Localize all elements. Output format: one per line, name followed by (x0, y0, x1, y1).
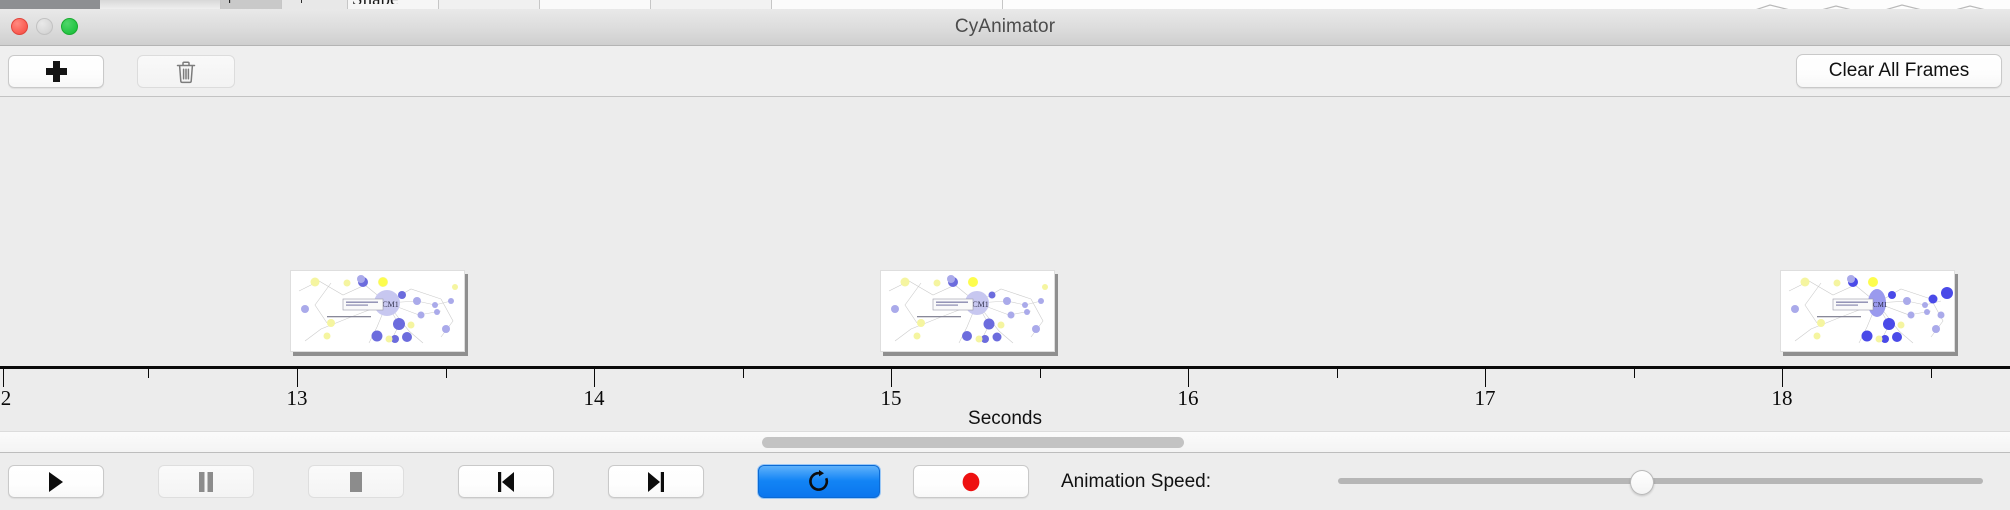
background-segment (282, 0, 348, 9)
clear-all-frames-button[interactable]: Clear All Frames (1796, 54, 2002, 88)
background-window-strip: ⌐ ↑ Shape (0, 0, 2010, 9)
ruler-major-tick (594, 369, 595, 387)
thumbnail-image: MCM1 (1780, 270, 1955, 352)
keyframe-thumbnail[interactable]: MCM1 (880, 270, 1055, 352)
record-button[interactable] (913, 465, 1029, 498)
keyframe-thumbnail[interactable]: MCM1 (1780, 270, 1955, 352)
background-network-preview (1740, 0, 2010, 9)
skip-forward-icon (646, 471, 666, 493)
skip-back-icon (496, 471, 516, 493)
ruler-major-tick (1188, 369, 1189, 387)
window-title: CyAnimator (0, 9, 2010, 44)
ruler-major-tick (3, 369, 4, 387)
slider-track (1338, 478, 1983, 484)
stop-icon (347, 471, 365, 493)
playback-controls: Animation Speed: (0, 453, 2010, 510)
background-glyph: ↑ (296, 0, 307, 3)
thumbnail-image: MCM1 (880, 270, 1055, 352)
add-frame-button[interactable] (8, 55, 104, 88)
plus-icon (46, 61, 67, 82)
background-segment (651, 0, 772, 9)
pause-button[interactable] (158, 465, 254, 498)
ruler-minor-tick (1337, 369, 1338, 378)
ruler-minor-tick (1634, 369, 1635, 378)
delete-frame-button[interactable] (137, 55, 235, 88)
background-dark-tab (0, 0, 100, 9)
play-button[interactable] (8, 465, 104, 498)
animation-speed-slider[interactable] (1338, 453, 1983, 510)
play-icon (46, 471, 66, 493)
background-segment (772, 0, 1003, 9)
ruler-minor-tick (1931, 369, 1932, 378)
ruler-minor-tick (446, 369, 447, 378)
timeline-horizontal-scrollbar[interactable] (0, 431, 2010, 453)
ruler-major-tick (1782, 369, 1783, 387)
background-glyph: ⌐ (228, 0, 240, 3)
scrollbar-thumb[interactable] (762, 437, 1184, 448)
ruler-minor-tick (148, 369, 149, 378)
ruler-major-tick (891, 369, 892, 387)
record-icon (960, 471, 982, 493)
background-segment (100, 0, 221, 9)
cyanimator-window: CyAnimator Clear All Frames (0, 9, 2010, 510)
background-segment (540, 0, 651, 9)
stop-button[interactable] (308, 465, 404, 498)
keyframe-thumbnail[interactable]: MCM1 (290, 270, 465, 352)
window-titlebar[interactable]: CyAnimator (0, 9, 2010, 46)
skip-to-end-button[interactable] (608, 465, 704, 498)
background-segment (439, 0, 540, 9)
axis-title-seconds: Seconds (0, 408, 2010, 430)
ruler-major-tick (1485, 369, 1486, 387)
pause-icon (197, 471, 215, 493)
timeline-ruler[interactable]: 2 13 14 15 16 17 18 Seconds (0, 366, 2010, 431)
ruler-minor-tick (743, 369, 744, 378)
ruler-minor-tick (1040, 369, 1041, 378)
loop-icon (808, 470, 830, 494)
loop-button[interactable] (758, 465, 880, 498)
trash-icon (175, 60, 197, 84)
slider-thumb[interactable] (1630, 470, 1654, 495)
timeline-track[interactable]: MCM1 (0, 97, 2010, 366)
skip-to-start-button[interactable] (458, 465, 554, 498)
animation-speed-label: Animation Speed: (1061, 453, 1211, 510)
ruler-major-tick (297, 369, 298, 387)
background-label-shape: Shape (352, 0, 398, 4)
cyanimator-window-root: ⌐ ↑ Shape CyAnimator (0, 0, 2010, 510)
frame-toolbar: Clear All Frames (0, 46, 2010, 97)
thumbnail-image: MCM1 (290, 270, 465, 352)
